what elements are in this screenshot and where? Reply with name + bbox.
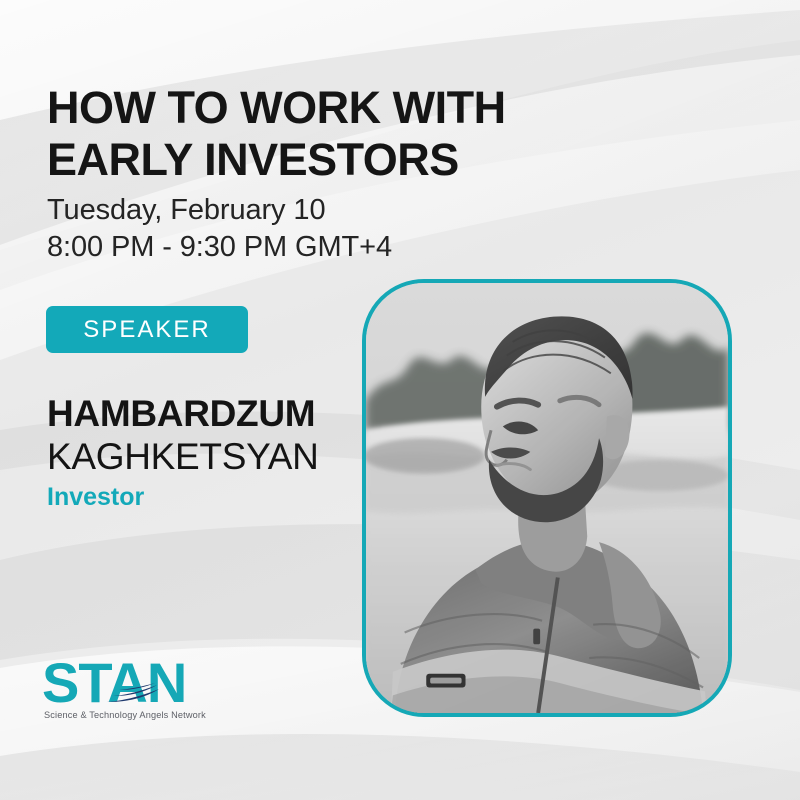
speaker-photo bbox=[366, 283, 728, 713]
wing-wave-mark bbox=[105, 683, 163, 705]
speaker-last-name: KAGHKETSYAN bbox=[47, 436, 319, 478]
speaker-badge: SPEAKER bbox=[46, 306, 248, 353]
stan-tagline: Science & Technology Angels Network bbox=[44, 710, 206, 720]
event-poster: HOW TO WORK WITH EARLY INVESTORS Tuesday… bbox=[0, 0, 800, 800]
event-datetime: Tuesday, February 10 8:00 PM - 9:30 PM G… bbox=[47, 192, 567, 266]
speaker-role: Investor bbox=[47, 483, 144, 512]
speaker-first-name: HAMBARDZUM bbox=[47, 393, 315, 435]
speaker-photo-frame bbox=[362, 279, 732, 717]
stan-logo: STAN Science & Technology Angels Network bbox=[42, 655, 262, 730]
page-title: HOW TO WORK WITH EARLY INVESTORS bbox=[47, 82, 647, 186]
